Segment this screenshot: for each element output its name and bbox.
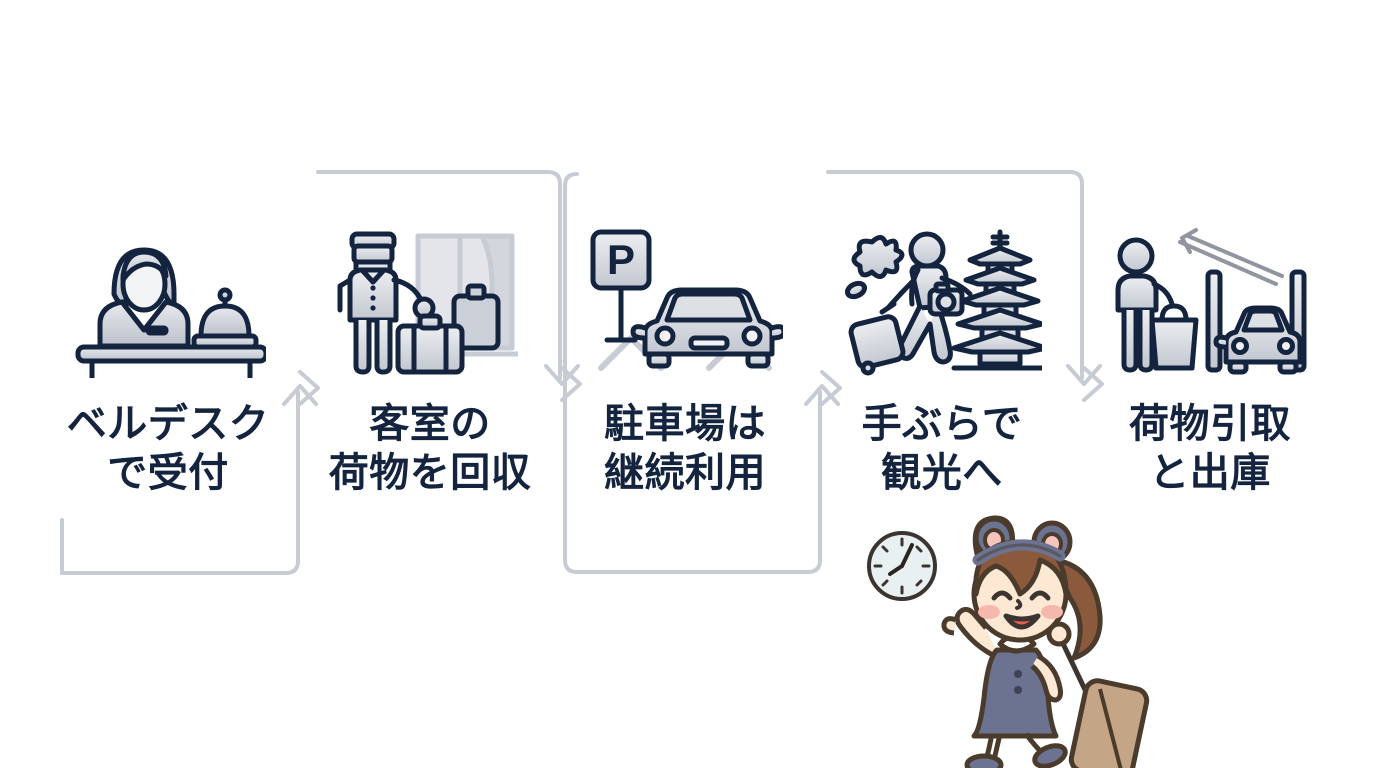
step-4-label: 手ぶらで 観光へ [822, 400, 1062, 498]
step-2-label: 客室の 荷物を回収 [310, 400, 550, 498]
bellhop-collect-luggage-icon [310, 228, 550, 378]
mascot-suitcase [1057, 631, 1149, 768]
head [974, 518, 1070, 640]
step-5-label: 荷物引取 と出庫 [1090, 400, 1330, 498]
pagoda-icon [954, 232, 1042, 368]
step-3-label: 駐車場は 継続利用 [565, 400, 805, 498]
flow-step-3: P [565, 228, 805, 498]
diagram-canvas: ベルデスク で受付 [0, 0, 1376, 768]
sightseeing-tourist-icon [822, 228, 1062, 378]
parking-continue-icon: P [565, 228, 805, 378]
luggage-pickup-exit-icon [1090, 228, 1330, 378]
wall-clock-icon [869, 533, 935, 599]
flow-step-5: 荷物引取 と出庫 [1090, 228, 1330, 498]
step-1-label: ベルデスク で受付 [48, 400, 288, 498]
parking-sign-letter: P [607, 236, 635, 283]
bell-desk-receptionist-icon [48, 228, 288, 378]
pointing-girl-with-suitcase-illustration [860, 498, 1150, 768]
flow-step-4: 手ぶらで 観光へ [822, 228, 1062, 498]
cherry-blossom-icon [845, 237, 902, 299]
flow-step-1: ベルデスク で受付 [48, 228, 288, 498]
gate-barrier-arrow-icon [1180, 230, 1282, 284]
flow-step-2: 客室の 荷物を回収 [310, 228, 550, 498]
legs [967, 734, 1068, 768]
